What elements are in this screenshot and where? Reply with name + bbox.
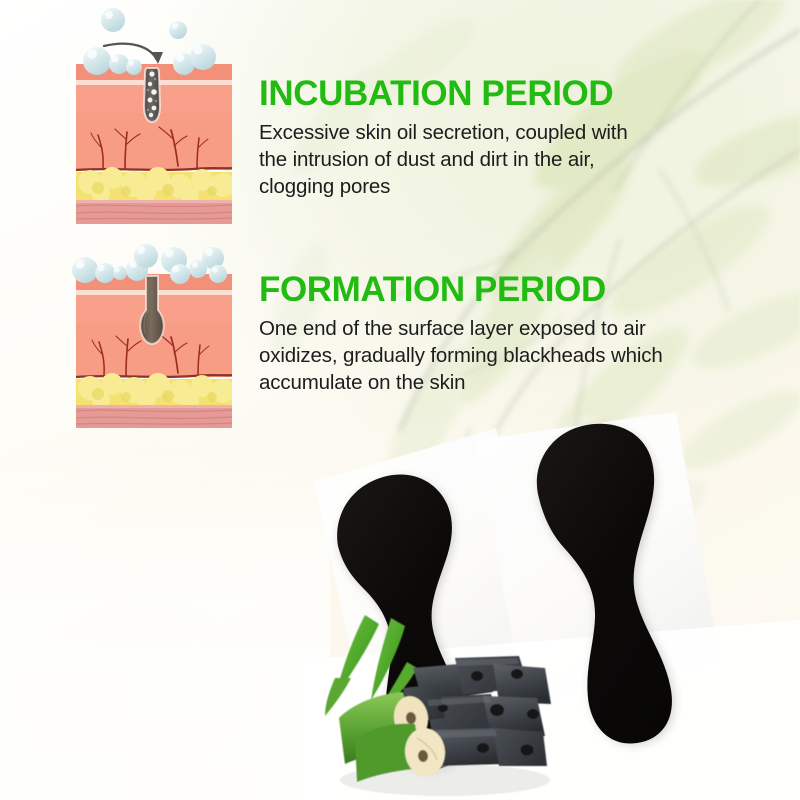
skin-diagram-incubation <box>68 2 240 224</box>
infographic-page: INCUBATION PERIOD Excessive skin oil sec… <box>0 0 800 800</box>
background-soft-white-wash <box>0 430 330 800</box>
bamboo-charcoal-photo <box>305 600 570 800</box>
body-formation: One end of the surface layer exposed to … <box>259 315 699 397</box>
section-formation: FORMATION PERIOD One end of the surface … <box>259 272 699 396</box>
heading-incubation: INCUBATION PERIOD <box>259 76 659 112</box>
body-incubation: Excessive skin oil secretion, coupled wi… <box>259 119 659 201</box>
section-incubation: INCUBATION PERIOD Excessive skin oil sec… <box>259 76 659 200</box>
skin-diagram-formation <box>68 238 240 428</box>
heading-formation: FORMATION PERIOD <box>259 272 699 308</box>
